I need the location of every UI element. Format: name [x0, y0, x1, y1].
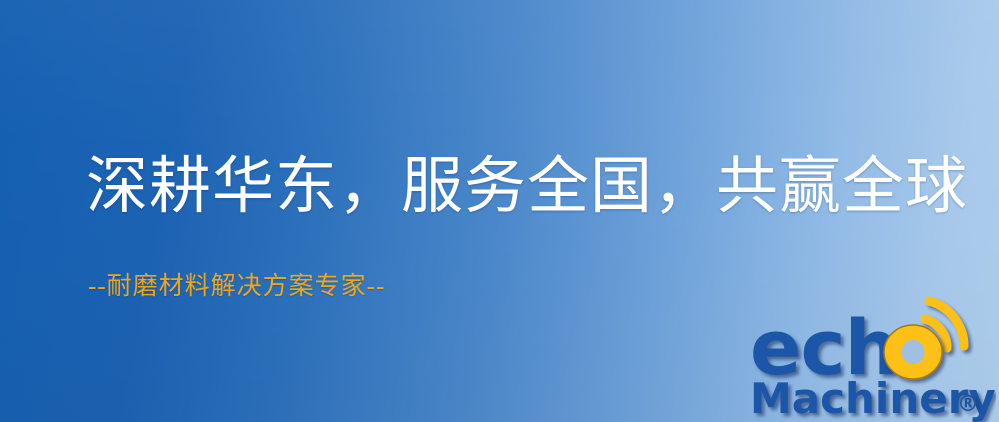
hero-banner: 深耕华东，服务全国，共赢全球 --耐磨材料解决方案专家-- ech Mac: [0, 0, 999, 422]
logo-brand-o: [884, 325, 942, 379]
echo-machinery-logo[interactable]: ech Machinery ®: [744, 296, 996, 422]
page-title: 深耕华东，服务全国，共赢全球: [86, 155, 968, 220]
page-subtitle: --耐磨材料解决方案专家--: [88, 266, 385, 302]
logo-registered-mark: ®: [957, 392, 979, 417]
